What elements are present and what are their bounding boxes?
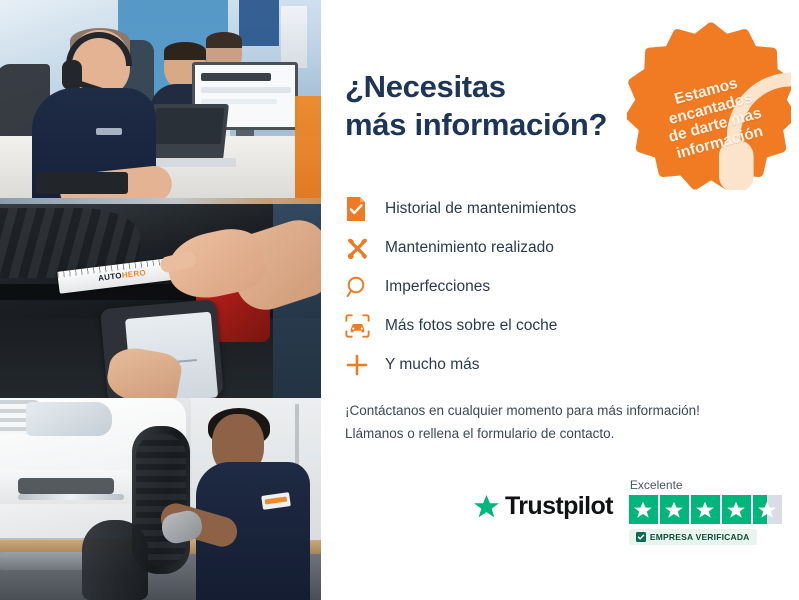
photo1-laptop (147, 104, 229, 160)
verified-check-icon (636, 532, 646, 542)
photo-wheel-inspection (0, 398, 321, 600)
photo-car-inspection: AUTOHERO (0, 198, 321, 398)
feature-label: Imperfecciones (379, 278, 490, 296)
photo3-chrome-trim (18, 494, 124, 500)
feature-label: Mantenimiento realizado (379, 239, 554, 257)
feature-item-more-photos: Más fotos sobre el coche (345, 307, 675, 345)
verified-badge: EMPRESA VERIFICADA (629, 529, 757, 545)
promo-badge: Estamos encantados de darte más informac… (621, 22, 791, 190)
verified-label: EMPRESA VERIFICADA (650, 532, 750, 542)
headset-icon (707, 48, 737, 76)
info-panel: ¿Necesitas más información? Estamos enca… (321, 0, 799, 600)
contact-text: ¡Contáctanos en cualquier momento para m… (345, 400, 775, 445)
trustpilot-logo: Trustpilot (473, 492, 613, 521)
feature-list: Historial de mantenimientos Mantenimient… (345, 190, 675, 385)
photo3-rear-tyre (82, 520, 148, 600)
photo3-technician (200, 410, 310, 600)
photo3-bumper-intake (18, 478, 114, 494)
trustpilot-rating: Excelente (629, 478, 782, 547)
star-rating (629, 495, 782, 524)
feature-item-imperfections: Imperfecciones (345, 268, 675, 306)
feature-label: Más fotos sobre el coche (379, 317, 557, 335)
car-photo-icon (345, 311, 379, 341)
photo1-orange-object (295, 96, 321, 198)
plus-icon (345, 350, 379, 380)
star-filled (691, 495, 720, 524)
feature-item-maintenance-done: Mantenimiento realizado (345, 229, 675, 267)
photo1-poster (281, 6, 307, 68)
trustpilot-name: Trustpilot (505, 492, 613, 521)
badge-shape: Estamos encantados de darte más informac… (627, 22, 791, 190)
photo-call-center-agent (0, 0, 321, 198)
star-filled (660, 495, 689, 524)
rating-label: Excelente (629, 478, 782, 492)
page-title: ¿Necesitas más información? (345, 68, 645, 144)
feature-item-service-history: Historial de mantenimientos (345, 190, 675, 228)
feature-item-much-more: Y mucho más (345, 346, 675, 384)
star-half (753, 495, 782, 524)
photo1-tablet (36, 172, 128, 194)
star-filled (629, 495, 658, 524)
photo2-top-strip (0, 198, 321, 204)
star-filled (722, 495, 751, 524)
trustpilot-star-icon (473, 494, 500, 520)
photo3-headlight (26, 402, 112, 436)
trustpilot-widget[interactable]: Trustpilot Excelente (473, 478, 782, 547)
feature-label: Historial de mantenimientos (379, 200, 576, 218)
photo-gallery: AUTOHERO (0, 0, 321, 600)
feature-label: Y mucho más (379, 356, 479, 374)
magnifier-icon (345, 272, 379, 302)
service-history-icon (345, 194, 379, 224)
tools-icon (345, 233, 379, 263)
